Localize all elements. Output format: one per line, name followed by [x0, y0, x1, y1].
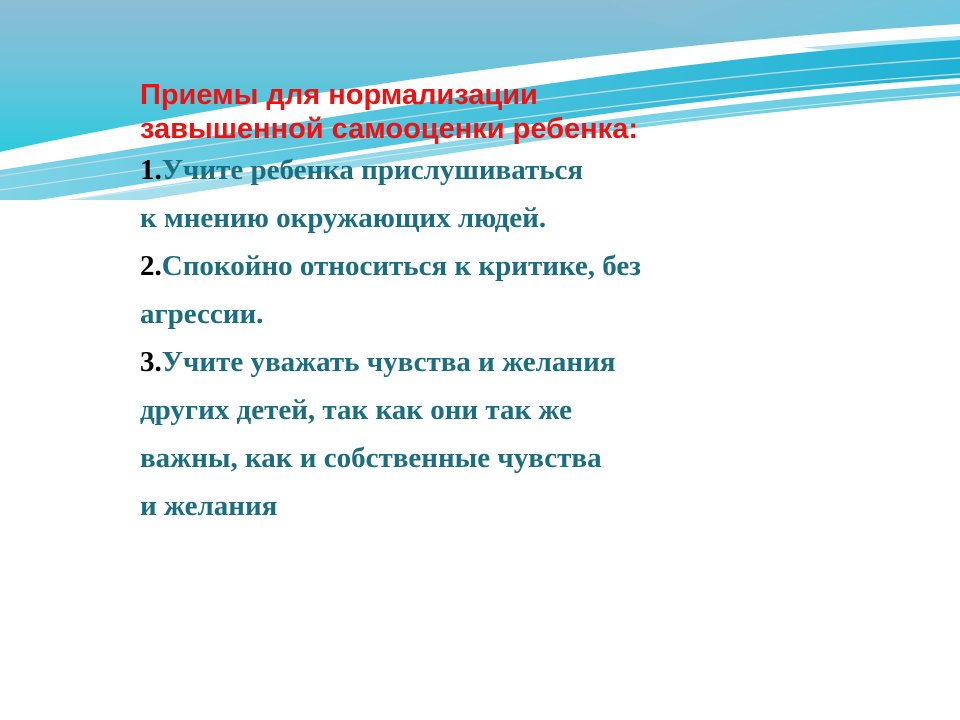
- tips-list: 1.Учите ребенка прислушиваться к мнению …: [140, 146, 940, 530]
- list-item-number: 3.: [140, 346, 162, 378]
- list-item-text: Учите ребенка прислушиваться к мнению ок…: [140, 154, 583, 234]
- list-item: 1.Учите ребенка прислушиваться к мнению …: [140, 146, 940, 242]
- list-item-number: 1.: [140, 154, 162, 186]
- content-block: Приемы для нормализации завышенной самоо…: [140, 78, 940, 530]
- list-item: 3.Учите уважать чувства и желания других…: [140, 338, 940, 530]
- wave-wedge-right: [612, 0, 960, 62]
- list-item-number: 2.: [140, 250, 162, 282]
- page-title: Приемы для нормализации завышенной самоо…: [140, 78, 940, 146]
- list-item-text: Учите уважать чувства и желания других д…: [140, 346, 615, 522]
- slide-canvas: Приемы для нормализации завышенной самоо…: [0, 0, 960, 720]
- list-item-text: Спокойно относиться к критике, без агрес…: [140, 250, 641, 330]
- list-item: 2.Спокойно относиться к критике, без агр…: [140, 242, 940, 338]
